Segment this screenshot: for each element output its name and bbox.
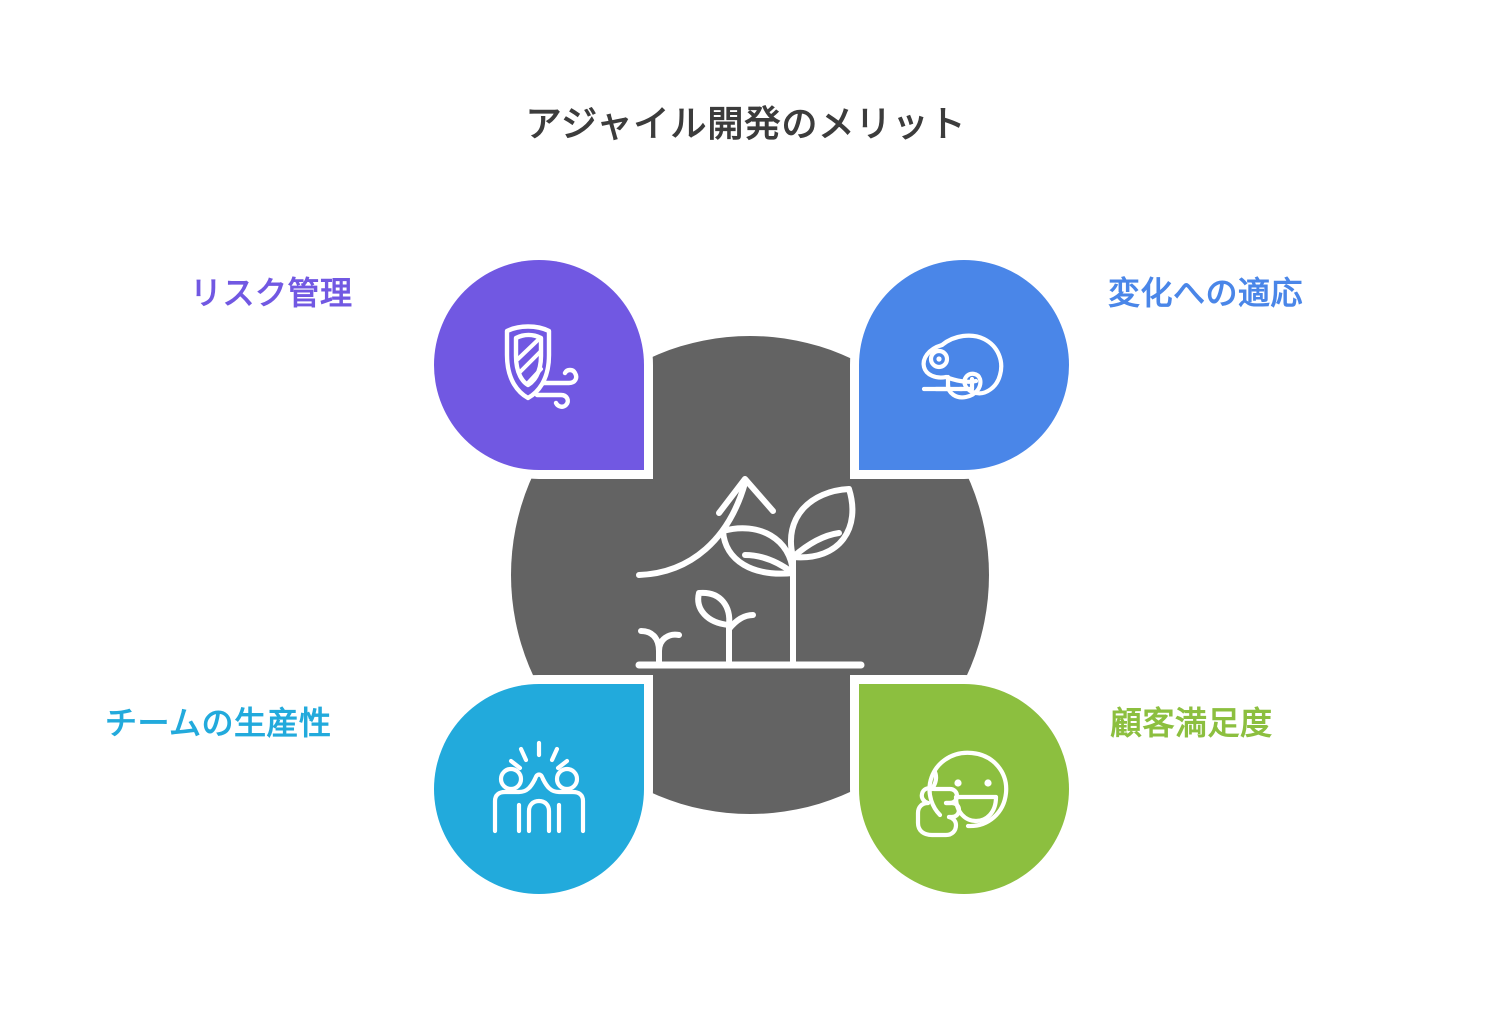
chameleon-icon xyxy=(910,311,1018,419)
pin-adapt-to-change[interactable] xyxy=(859,260,1069,470)
high-five-people-icon xyxy=(485,735,593,843)
label-risk-management: リスク管理 xyxy=(190,268,353,314)
infographic-canvas: アジャイル開発のメリット xyxy=(0,0,1492,1012)
smiley-thumbs-up-icon xyxy=(910,735,1018,843)
pin-customer-satisfaction[interactable] xyxy=(859,684,1069,894)
page-title: アジャイル開発のメリット xyxy=(0,95,1492,147)
label-customer-satisfaction: 顧客満足度 xyxy=(1110,698,1273,744)
shield-wind-icon xyxy=(485,311,593,419)
label-team-productivity: チームの生産性 xyxy=(105,698,332,744)
pin-team-productivity[interactable] xyxy=(434,684,644,894)
growth-plants-arrow-icon xyxy=(633,465,867,685)
pin-risk-management[interactable] xyxy=(434,260,644,470)
label-adapt-to-change: 変化への適応 xyxy=(1108,268,1303,314)
